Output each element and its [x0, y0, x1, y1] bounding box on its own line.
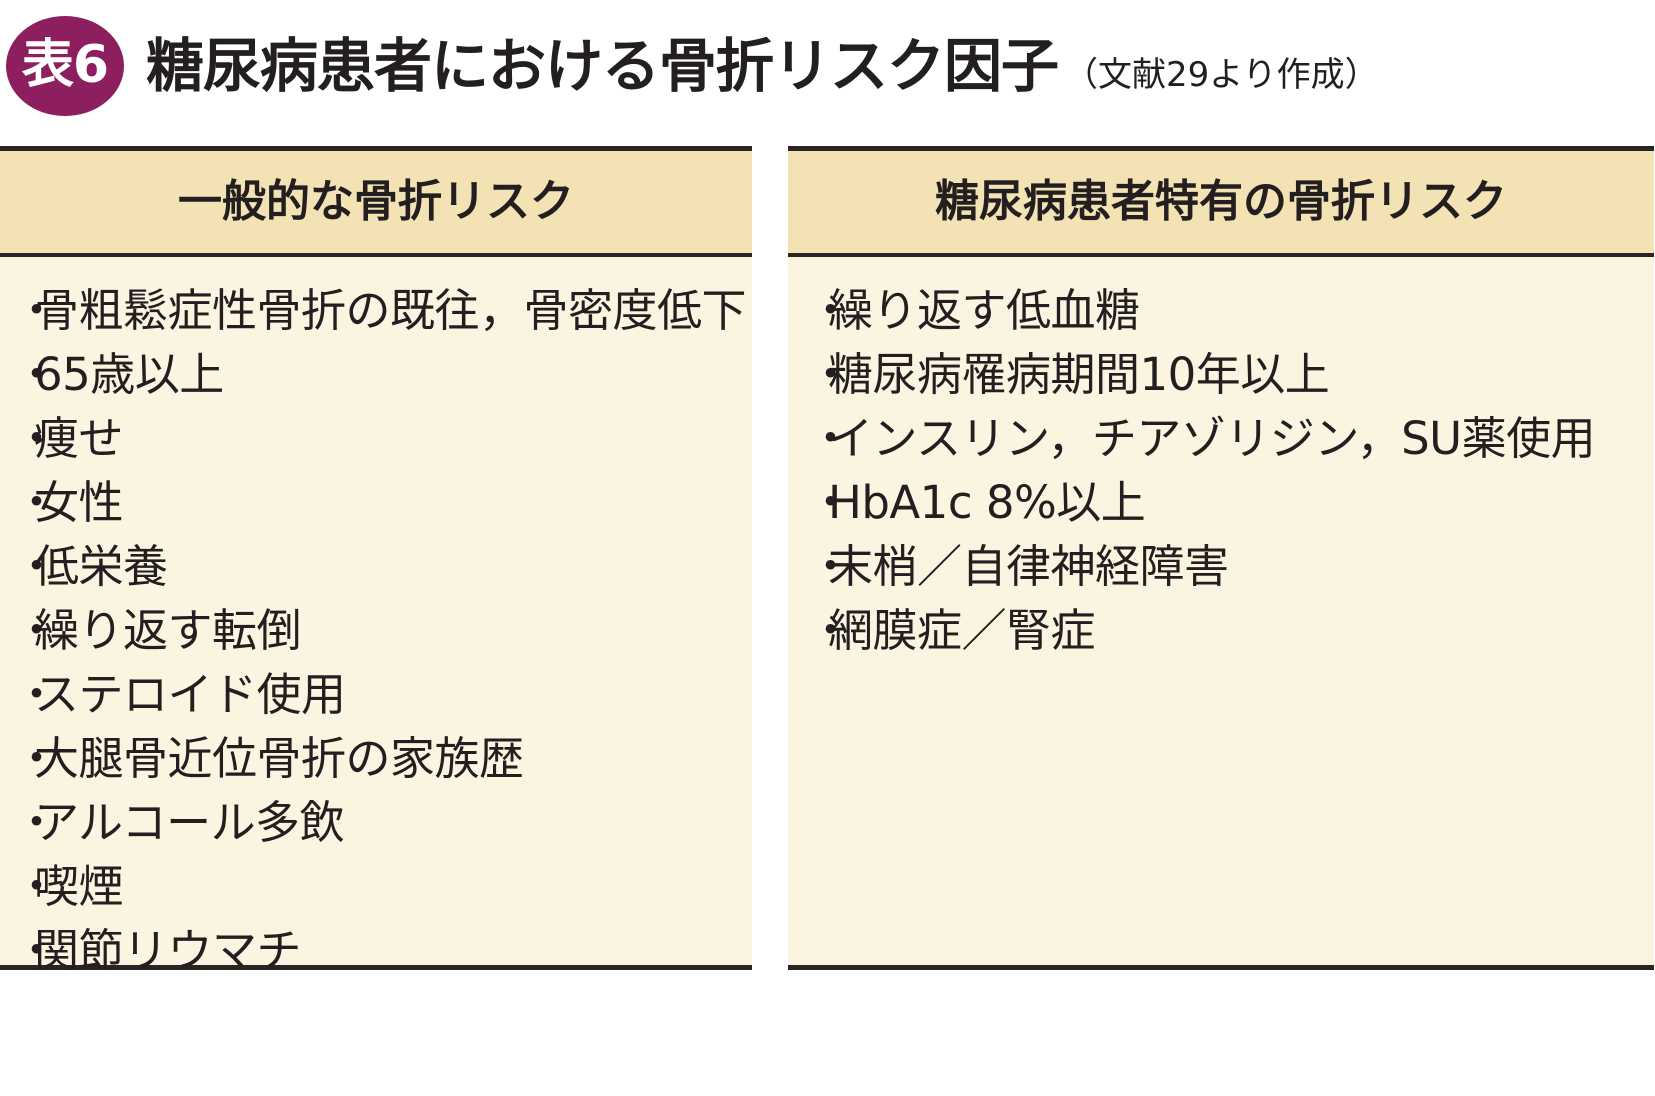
table-title-row: 表6 糖尿病患者における骨折リスク因子 （文献29より作成） — [0, 0, 1655, 132]
list-item-label: 末梢／自律神経障害 — [828, 535, 1229, 599]
list-item-label: 痩せ — [34, 407, 123, 471]
bullet-icon: ・ — [14, 599, 34, 663]
list-item-label: 糖尿病罹病期間10年以上 — [828, 343, 1329, 407]
general-risk-list: ・ 骨粗鬆症性骨折の既往，骨密度低下 ・ 65歳以上 ・ 痩せ ・ 女性 ・ 低… — [0, 257, 752, 983]
table-number-label: 表6 — [22, 39, 108, 91]
list-item: ・ 末梢／自律神経障害 — [808, 535, 1654, 599]
bullet-icon: ・ — [808, 407, 828, 471]
list-item-label: 関節リウマチ — [34, 919, 301, 983]
bullet-icon: ・ — [14, 279, 34, 343]
list-item-label: 低栄養 — [34, 535, 168, 599]
list-item: ・ 低栄養 — [14, 535, 752, 599]
list-item: ・ アルコール多飲 — [14, 791, 752, 855]
list-item-label: アルコール多飲 — [34, 791, 344, 855]
list-item-label: 骨粗鬆症性骨折の既往，骨密度低下 — [34, 279, 746, 343]
general-risk-header-label: 一般的な骨折リスク — [178, 180, 574, 224]
bullet-icon: ・ — [14, 343, 34, 407]
list-item-label: 65歳以上 — [34, 343, 224, 407]
bullet-icon: ・ — [808, 471, 828, 535]
bullet-icon: ・ — [14, 791, 34, 855]
list-item: ・ 繰り返す転倒 — [14, 599, 752, 663]
table-title: 糖尿病患者における骨折リスク因子 （文献29より作成） — [146, 37, 1379, 95]
list-item: ・ 女性 — [14, 471, 752, 535]
list-item: ・ 喫煙 — [14, 855, 752, 919]
list-item-label: 繰り返す転倒 — [34, 599, 301, 663]
bullet-icon: ・ — [808, 343, 828, 407]
table-title-source: （文献29より作成） — [1064, 58, 1379, 92]
list-item: ・ 大腿骨近位骨折の家族歴 — [14, 727, 752, 791]
list-item: ・ 骨粗鬆症性骨折の既往，骨密度低下 — [14, 279, 752, 343]
list-item-label: インスリン，チアゾリジン，SU薬使用 — [828, 407, 1595, 471]
list-item: ・ ステロイド使用 — [14, 663, 752, 727]
list-item: ・ 65歳以上 — [14, 343, 752, 407]
list-item-label: 女性 — [34, 471, 123, 535]
diabetes-risk-table: 糖尿病患者特有の骨折リスク ・ 繰り返す低血糖 ・ 糖尿病罹病期間10年以上 ・… — [788, 146, 1654, 970]
list-item: ・ インスリン，チアゾリジン，SU薬使用 — [808, 407, 1654, 471]
list-item: ・ 関節リウマチ — [14, 919, 752, 983]
bullet-icon: ・ — [14, 407, 34, 471]
diabetes-risk-list: ・ 繰り返す低血糖 ・ 糖尿病罹病期間10年以上 ・ インスリン，チアゾリジン，… — [788, 257, 1654, 663]
list-item: ・ 痩せ — [14, 407, 752, 471]
list-item-label: 網膜症／腎症 — [828, 599, 1095, 663]
list-item: ・ 繰り返す低血糖 — [808, 279, 1654, 343]
diabetes-risk-table-header: 糖尿病患者特有の骨折リスク — [788, 151, 1654, 257]
bullet-icon: ・ — [14, 855, 34, 919]
list-item: ・ 網膜症／腎症 — [808, 599, 1654, 663]
table-number-badge: 表6 — [6, 16, 124, 116]
list-item-label: HbA1c 8%以上 — [828, 471, 1145, 535]
list-item-label: ステロイド使用 — [34, 663, 346, 727]
general-risk-table: 一般的な骨折リスク ・ 骨粗鬆症性骨折の既往，骨密度低下 ・ 65歳以上 ・ 痩… — [0, 146, 752, 970]
bullet-icon: ・ — [14, 919, 34, 983]
list-item: ・ 糖尿病罹病期間10年以上 — [808, 343, 1654, 407]
bullet-icon: ・ — [14, 727, 34, 791]
bullet-icon: ・ — [14, 663, 34, 727]
diabetes-risk-header-label: 糖尿病患者特有の骨折リスク — [935, 180, 1507, 224]
bullet-icon: ・ — [808, 279, 828, 343]
list-item-label: 繰り返す低血糖 — [828, 279, 1140, 343]
bullet-icon: ・ — [14, 535, 34, 599]
list-item-label: 喫煙 — [34, 855, 123, 919]
bullet-icon: ・ — [14, 471, 34, 535]
list-item-label: 大腿骨近位骨折の家族歴 — [34, 727, 524, 791]
general-risk-table-header: 一般的な骨折リスク — [0, 151, 752, 257]
table-title-main: 糖尿病患者における骨折リスク因子 — [146, 37, 1058, 95]
bullet-icon: ・ — [808, 599, 828, 663]
list-item: ・ HbA1c 8%以上 — [808, 471, 1654, 535]
bullet-icon: ・ — [808, 535, 828, 599]
